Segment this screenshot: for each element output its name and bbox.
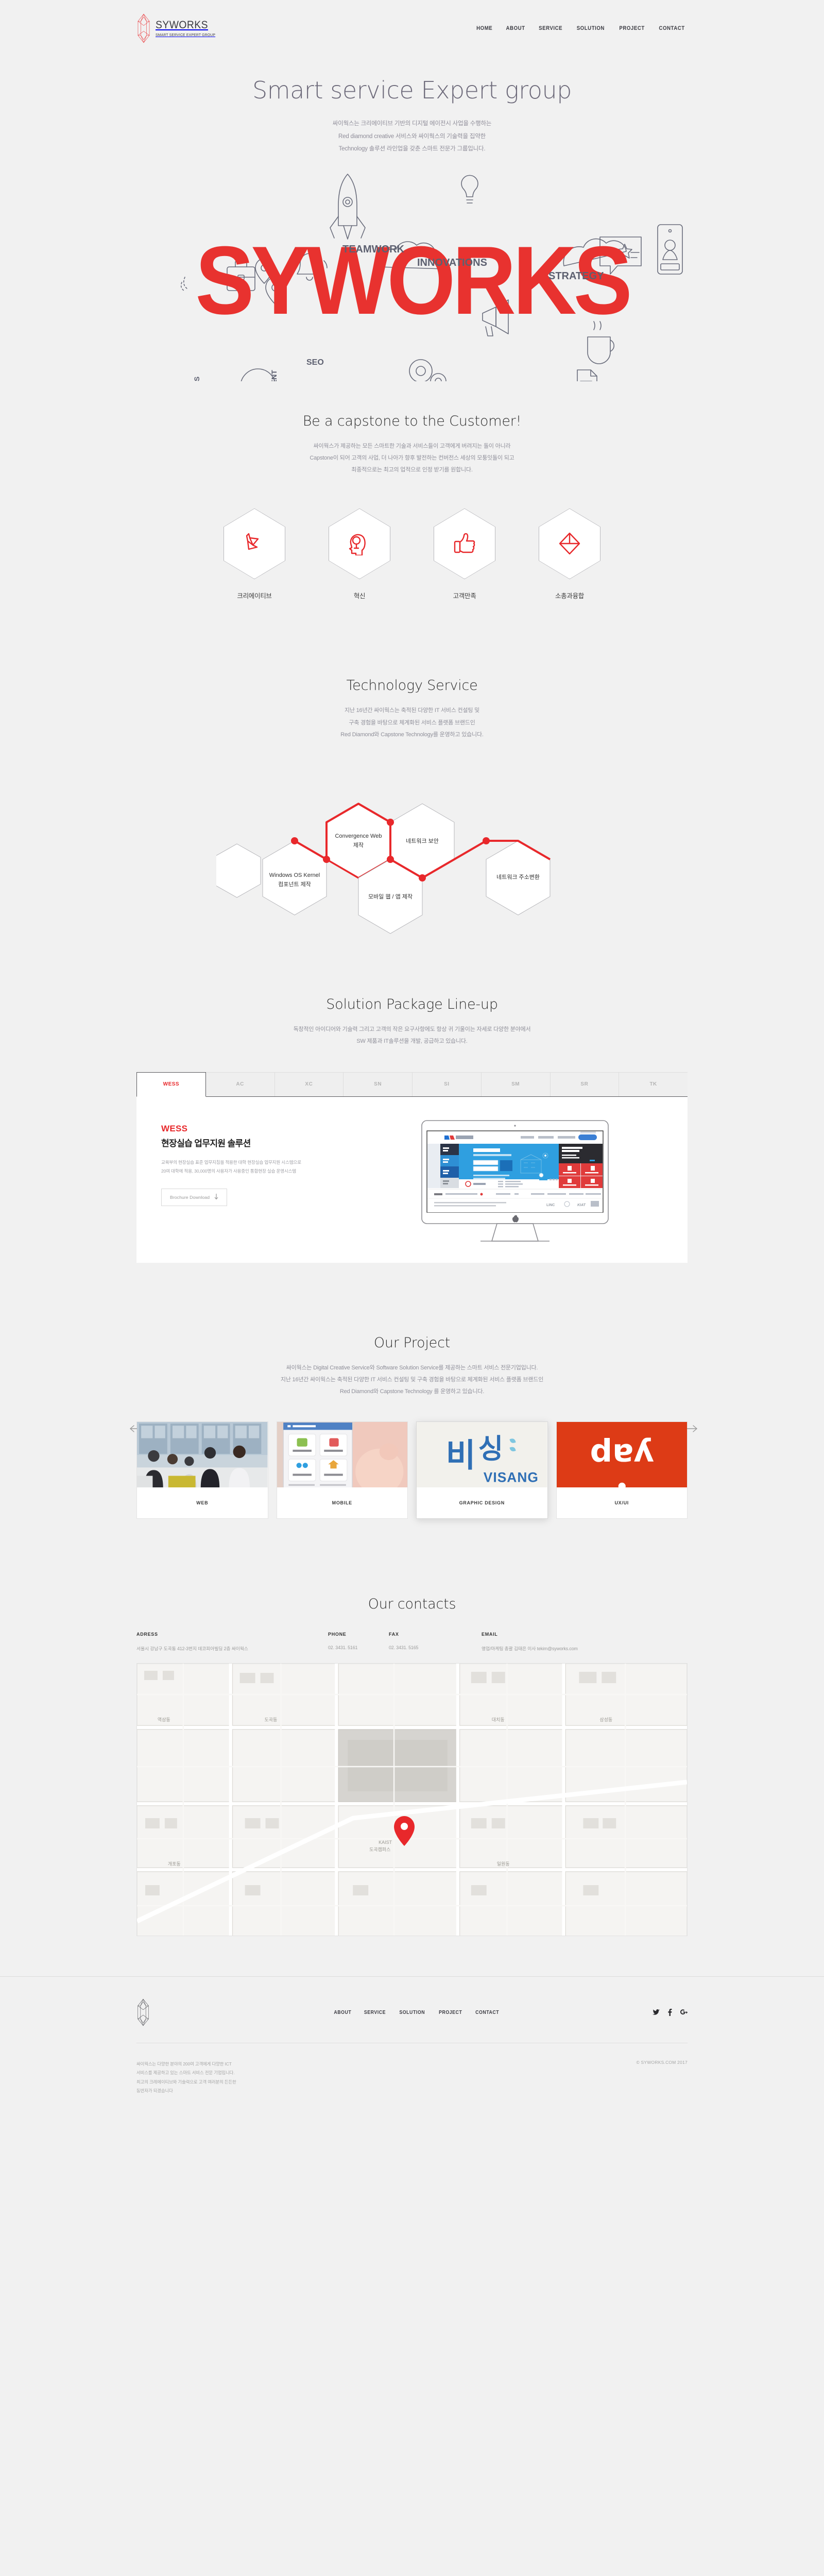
tab-wess[interactable]: WESS <box>136 1072 206 1097</box>
footer-nav-about[interactable]: ABOUT <box>334 2010 351 2015</box>
contact-value-email: 영업/마케팅 총괄 김태은 이사 tekim@syworks.com <box>482 1645 688 1652</box>
value-hexagon <box>539 508 600 579</box>
diamond-logo-icon <box>136 13 151 43</box>
footer-navigation: ABOUT SERVICE SOLUTION PROJECT CONTACT <box>333 2010 501 2015</box>
footer-nav-solution[interactable]: SOLUTION <box>399 2010 425 2015</box>
hero-section: Smart service Expert group 싸이웍스는 크리에이티브 … <box>136 57 688 381</box>
contact-head-phone: PHONE <box>328 1632 389 1637</box>
project-section: Our Project 싸이웍스는 Digital Creative Servi… <box>136 1335 688 1519</box>
project-thumbnail: 비 싱 VISANG <box>417 1422 547 1487</box>
value-item-satisfaction[interactable]: 고객만족 <box>434 508 495 600</box>
technology-line-1: 지난 16년간 싸이웍스는 축적된 다양한 IT 서비스 컨설팅 및 <box>345 707 479 714</box>
contact-col-email: EMAIL 영업/마케팅 총괄 김태은 이사 tekim@syworks.com <box>482 1632 688 1652</box>
solution-title: Solution Package Line-up <box>136 996 688 1012</box>
google-plus-icon[interactable] <box>680 2009 688 2016</box>
hex-1-label-line1: Windows OS Kernel <box>269 872 320 878</box>
solution-panel-preview: LINC KIAT <box>367 1118 663 1247</box>
project-card-label: WEB <box>137 1487 268 1518</box>
project-line-2: 지난 16년간 싸이웍스는 축적된 다양한 IT 서비스 컨설팅 및 구축 경험… <box>281 1377 543 1383</box>
value-label: 혁신 <box>329 590 390 600</box>
solution-line-1: 독창적인 아이디어와 기술력 그리고 고객의 작은 요구사항에도 항상 귀 기울… <box>294 1026 531 1032</box>
brochure-download-button[interactable]: Brochure Download <box>161 1189 227 1206</box>
brand-logo[interactable]: SYWORKS SMART SERVICE EXPERT GROUP <box>136 13 222 43</box>
nav-item-contact[interactable]: CONTACT <box>659 25 684 31</box>
tab-xc[interactable]: XC <box>275 1072 344 1096</box>
contact-col-adress: ADRESS 서울시 강남구 도곡동 412-3번지 데코피아빌딩 2층 싸이웍… <box>136 1632 328 1652</box>
hex-2-label-line2: 제작 <box>353 842 364 849</box>
project-card-uxui[interactable]: yap UX/UI <box>556 1421 688 1519</box>
contact-head-fax: FAX <box>389 1632 482 1637</box>
svg-text:yap: yap <box>590 1437 654 1473</box>
technology-title: Technology Service <box>136 677 688 693</box>
contact-map[interactable]: KAIST 도곡캠퍼스 역삼동 도곡동 대치동 삼성동 개포동 일원동 <box>136 1663 688 1936</box>
thumbs-up-icon <box>453 532 476 555</box>
value-item-creative[interactable]: 크리에이티브 <box>224 508 285 600</box>
site-header: SYWORKS SMART SERVICE EXPERT GROUP HOME … <box>136 0 688 57</box>
hero-artwork: SYWORKS TEAMWORK INNOVATIONS STRATEGY SE… <box>136 165 688 381</box>
tab-sn[interactable]: SN <box>344 1072 413 1096</box>
hero-sub-line-2: Red diamond creative 서비스와 싸이웍스의 기술력을 집약한 <box>338 133 486 140</box>
contact-head-email: EMAIL <box>482 1632 688 1637</box>
footer-diamond-logo-icon[interactable] <box>136 1998 150 2026</box>
footer-about-line-4: 동반자가 되겠습니다 <box>136 2088 173 2093</box>
capstone-title: Be a capstone to the Customer! <box>136 413 688 429</box>
site-footer: ABOUT SERVICE SOLUTION PROJECT CONTACT <box>0 1977 824 2116</box>
map-label-f: 일원동 <box>497 1861 510 1867</box>
tab-sr[interactable]: SR <box>551 1072 620 1096</box>
value-list: 크리에이티브 혁신 <box>136 508 688 600</box>
keyword-seo: SEO <box>306 358 324 367</box>
project-card-label: UX/UI <box>557 1487 688 1518</box>
footer-nav-contact[interactable]: CONTACT <box>475 2010 499 2015</box>
tab-tk[interactable]: TK <box>619 1072 688 1096</box>
project-line-3: Red Diamond와 Capstone Technology 를 운영하고 … <box>340 1388 484 1395</box>
capstone-line-2: Capstone이 되어 고객의 사업, 더 나아가 향후 발전하는 컨버전스 … <box>310 455 514 461</box>
technology-section: Technology Service 지난 16년간 싸이웍스는 축적된 다양한… <box>136 677 688 934</box>
hex-1-label-line2: 컴포넌트 제작 <box>278 881 311 888</box>
keyword-customers: CUSTOMERS <box>193 377 201 381</box>
hex-4-label-line1: 모바일 웹 / 앱 제작 <box>368 893 413 900</box>
solution-tab-panel: WESS 현장실습 업무지원 솔루션 교육부의 현장실습 표준 업무지침을 적용… <box>136 1097 688 1263</box>
project-card-list: WEB <box>136 1421 688 1519</box>
origami-bird-icon <box>243 532 266 555</box>
svg-text:LINC: LINC <box>546 1204 555 1207</box>
keyword-innovations: INNOVATIONS <box>417 257 487 268</box>
phone-in-hand-photo <box>277 1422 408 1487</box>
project-carousel: WEB <box>136 1421 688 1519</box>
map-label-e: 개포동 <box>168 1861 181 1867</box>
contacts-section: Our contacts ADRESS 서울시 강남구 도곡동 412-3번지 … <box>136 1596 688 1936</box>
map-label-kaist-sub: 도곡캠퍼스 <box>369 1846 390 1852</box>
cube-icon <box>558 532 581 555</box>
download-arrow-icon <box>214 1194 218 1201</box>
technology-hex-svg: Windows OS Kernel 컴포넌트 제작 Convergence We… <box>216 765 608 935</box>
project-card-label: GRAPHIC DESIGN <box>417 1487 547 1518</box>
project-thumbnail <box>137 1422 268 1487</box>
contact-value-adress: 서울시 강남구 도곡동 412-3번지 데코피아빌딩 2층 싸이웍스 <box>136 1645 328 1652</box>
solution-section: Solution Package Line-up 독창적인 아이디어와 기술력 … <box>136 996 688 1263</box>
project-description: 싸이웍스는 Digital Creative Service와 Software… <box>136 1362 688 1398</box>
keyword-strategy: STRATEGY <box>548 270 604 282</box>
footer-about-line-1: 싸이웍스는 다양한 분야의 200여 고객에게 다양한 ICT <box>136 2061 232 2066</box>
footer-about-line-3: 최고의 크레에이티브와 기술력으로 고객 여러분의 든든한 <box>136 2079 236 2084</box>
map-canvas: KAIST 도곡캠퍼스 역삼동 도곡동 대치동 삼성동 개포동 일원동 <box>137 1664 687 1936</box>
capstone-description: 싸이웍스가 제공하는 모든 스마트한 기술과 서비스들이 고객에게 버려지는 돌… <box>136 440 688 476</box>
footer-copyright: © SYWORKS.COM 2017 <box>636 2060 688 2095</box>
value-item-innovation[interactable]: 혁신 <box>329 508 390 600</box>
office-meeting-photo <box>137 1422 268 1487</box>
contact-value-fax: 02. 3431. 5165 <box>389 1645 482 1650</box>
footer-top-row: ABOUT SERVICE SOLUTION PROJECT CONTACT <box>136 1995 688 2029</box>
social-links <box>653 2009 688 2016</box>
footer-about-text: 싸이웍스는 다양한 분야의 200여 고객에게 다양한 ICT 서비스를 제공하… <box>136 2060 236 2095</box>
value-hexagon <box>224 508 285 579</box>
brochure-download-label: Brochure Download <box>170 1195 210 1200</box>
value-item-convergence[interactable]: 소총과융합 <box>539 508 600 600</box>
value-hexagon <box>434 508 495 579</box>
project-card-web[interactable]: WEB <box>136 1421 268 1519</box>
technology-line-2: 구축 경험을 바탕으로 체계화된 서비스 플랫폼 브랜드인 <box>349 720 475 726</box>
project-card-graphic-design[interactable]: 비 싱 VISANG GRAPHIC DESIGN <box>416 1421 548 1519</box>
facebook-icon[interactable] <box>666 2009 674 2016</box>
capstone-line-1: 싸이웍스가 제공하는 모든 스마트한 기술과 서비스들이 고객에게 버려지는 돌… <box>314 443 511 449</box>
footer-bottom-row: 싸이웍스는 다양한 분야의 200여 고객에게 다양한 ICT 서비스를 제공하… <box>136 2043 688 2116</box>
hero-sub-line-1: 싸이웍스는 크리에이티브 기반의 디지털 에이전시 사업을 수행하는 <box>333 121 492 127</box>
solution-panel-brand: WESS <box>161 1124 367 1134</box>
nav-item-about[interactable]: ABOUT <box>506 25 525 31</box>
brand-name: SYWORKS <box>156 20 217 31</box>
svg-text:VISANG: VISANG <box>484 1470 539 1485</box>
keyword-management: MANAGEMENT <box>270 370 278 381</box>
solution-panel-text: WESS 현장실습 업무지원 솔루션 교육부의 현장실습 표준 업무지침을 적용… <box>161 1118 367 1247</box>
keyword-teamwork: TEAMWORK <box>342 244 405 255</box>
twitter-icon[interactable] <box>653 2009 660 2016</box>
head-lightbulb-icon <box>348 532 371 555</box>
solution-panel-description: 교육부의 현장실습 표준 업무지침을 적용한 대학 현장실습 업무지원 시스템으… <box>161 1158 367 1176</box>
solution-panel-desc-line-1: 교육부의 현장실습 표준 업무지침을 적용한 대학 현장실습 업무지원 시스템으… <box>161 1160 301 1165</box>
imac-mockup: LINC KIAT <box>420 1118 610 1247</box>
nav-item-solution[interactable]: SOLUTION <box>577 25 605 31</box>
tab-ac[interactable]: AC <box>206 1072 275 1096</box>
brand-tagline: SMART SERVICE EXPERT GROUP <box>156 32 215 37</box>
hero-artwork-svg: SYWORKS TEAMWORK INNOVATIONS STRATEGY SE… <box>136 165 688 381</box>
technology-hex-diagram: Windows OS Kernel 컴포넌트 제작 Convergence We… <box>136 765 688 935</box>
hero-subtitle: 싸이웍스는 크리에이티브 기반의 디지털 에이전시 사업을 수행하는 Red d… <box>136 117 688 156</box>
solution-tabs: WESS AC XC SN SI SM SR TK <box>136 1072 688 1097</box>
technology-description: 지난 16년간 싸이웍스는 축적된 다양한 IT 서비스 컨설팅 및 구축 경험… <box>136 705 688 740</box>
footer-nav-service[interactable]: SERVICE <box>364 2010 386 2015</box>
solution-description: 독창적인 아이디어와 기술력 그리고 고객의 작은 요구사항에도 항상 귀 기울… <box>136 1024 688 1047</box>
hex-3-label-line1: 네트워크 보안 <box>406 838 439 844</box>
project-thumbnail <box>277 1422 408 1487</box>
main-navigation: HOME ABOUT SERVICE SOLUTION PROJECT CONT… <box>475 25 686 31</box>
project-title: Our Project <box>136 1335 688 1351</box>
solution-tab-box: WESS AC XC SN SI SM SR TK WESS 현장실습 업무지원… <box>136 1072 688 1263</box>
hex-windows-os <box>216 844 261 897</box>
tab-sm[interactable]: SM <box>482 1072 551 1096</box>
svg-text:비: 비 <box>446 1437 476 1475</box>
contact-head-adress: ADRESS <box>136 1632 328 1637</box>
map-label-b: 도곡동 <box>265 1717 278 1722</box>
solution-panel-heading: 현장실습 업무지원 솔루션 <box>161 1136 367 1149</box>
footer-nav-project[interactable]: PROJECT <box>439 2010 462 2015</box>
map-label-d: 삼성동 <box>599 1717 612 1722</box>
nav-item-project[interactable]: PROJECT <box>619 25 644 31</box>
visang-logo-photo: 비 싱 VISANG <box>417 1422 547 1487</box>
contacts-title: Our contacts <box>136 1596 688 1612</box>
project-card-mobile[interactable]: MOBILE <box>277 1421 408 1519</box>
project-card-label: MOBILE <box>277 1487 408 1518</box>
capstone-section: Be a capstone to the Customer! 싸이웍스가 제공하… <box>136 413 688 600</box>
value-label: 소총과융합 <box>539 590 600 600</box>
nav-item-home[interactable]: HOME <box>476 25 492 31</box>
contact-value-phone: 02. 3431. 5161 <box>328 1645 389 1650</box>
project-thumbnail: yap <box>557 1422 688 1487</box>
nav-item-service[interactable]: SERVICE <box>539 25 562 31</box>
map-label-a: 역삼동 <box>158 1717 170 1722</box>
hero-title: Smart service Expert group <box>136 76 688 104</box>
tab-si[interactable]: SI <box>413 1072 482 1096</box>
red-yap-logo-photo: yap <box>557 1422 688 1487</box>
footer-about-line-2: 서비스를 제공하고 있는 스마트 서비스 전문 기업입니다. <box>136 2070 235 2075</box>
value-label: 고객만족 <box>434 590 495 600</box>
value-hexagon <box>329 508 390 579</box>
contact-col-phone: PHONE 02. 3431. 5161 <box>328 1632 389 1652</box>
solution-line-2: SW 제품과 IT솔루션을 개발, 공급하고 있습니다. <box>356 1038 467 1044</box>
value-label: 크리에이티브 <box>224 590 285 600</box>
hero-sub-line-3: Technology 솔루션 라인업을 갖춘 스마트 전문가 그룹입니다. <box>339 146 486 152</box>
map-label-kaist: KAIST <box>379 1840 392 1845</box>
svg-text:싱: 싱 <box>478 1433 504 1465</box>
map-label-c: 대치동 <box>492 1717 505 1722</box>
hex-5-label-line1: 네트워크 주소변환 <box>496 874 540 880</box>
project-line-1: 싸이웍스는 Digital Creative Service와 Software… <box>286 1365 538 1371</box>
contact-col-fax: FAX 02. 3431. 5165 <box>389 1632 482 1652</box>
technology-line-3: Red Diamond와 Capstone Technology를 운영하고 있… <box>340 732 483 738</box>
svg-text:KIAT: KIAT <box>577 1204 586 1207</box>
hex-2-label-line1: Convergence Web <box>335 833 382 839</box>
contact-info-table: ADRESS 서울시 강남구 도곡동 412-3번지 데코피아빌딩 2층 싸이웍… <box>136 1632 688 1652</box>
solution-panel-desc-line-2: 20여 대학에 적용, 30,000명의 사용자가 사용중인 통합현장 실습 운… <box>161 1168 296 1174</box>
capstone-line-3: 최종적으로는 최고의 업적으로 인정 받기를 원합니다. <box>351 467 472 473</box>
